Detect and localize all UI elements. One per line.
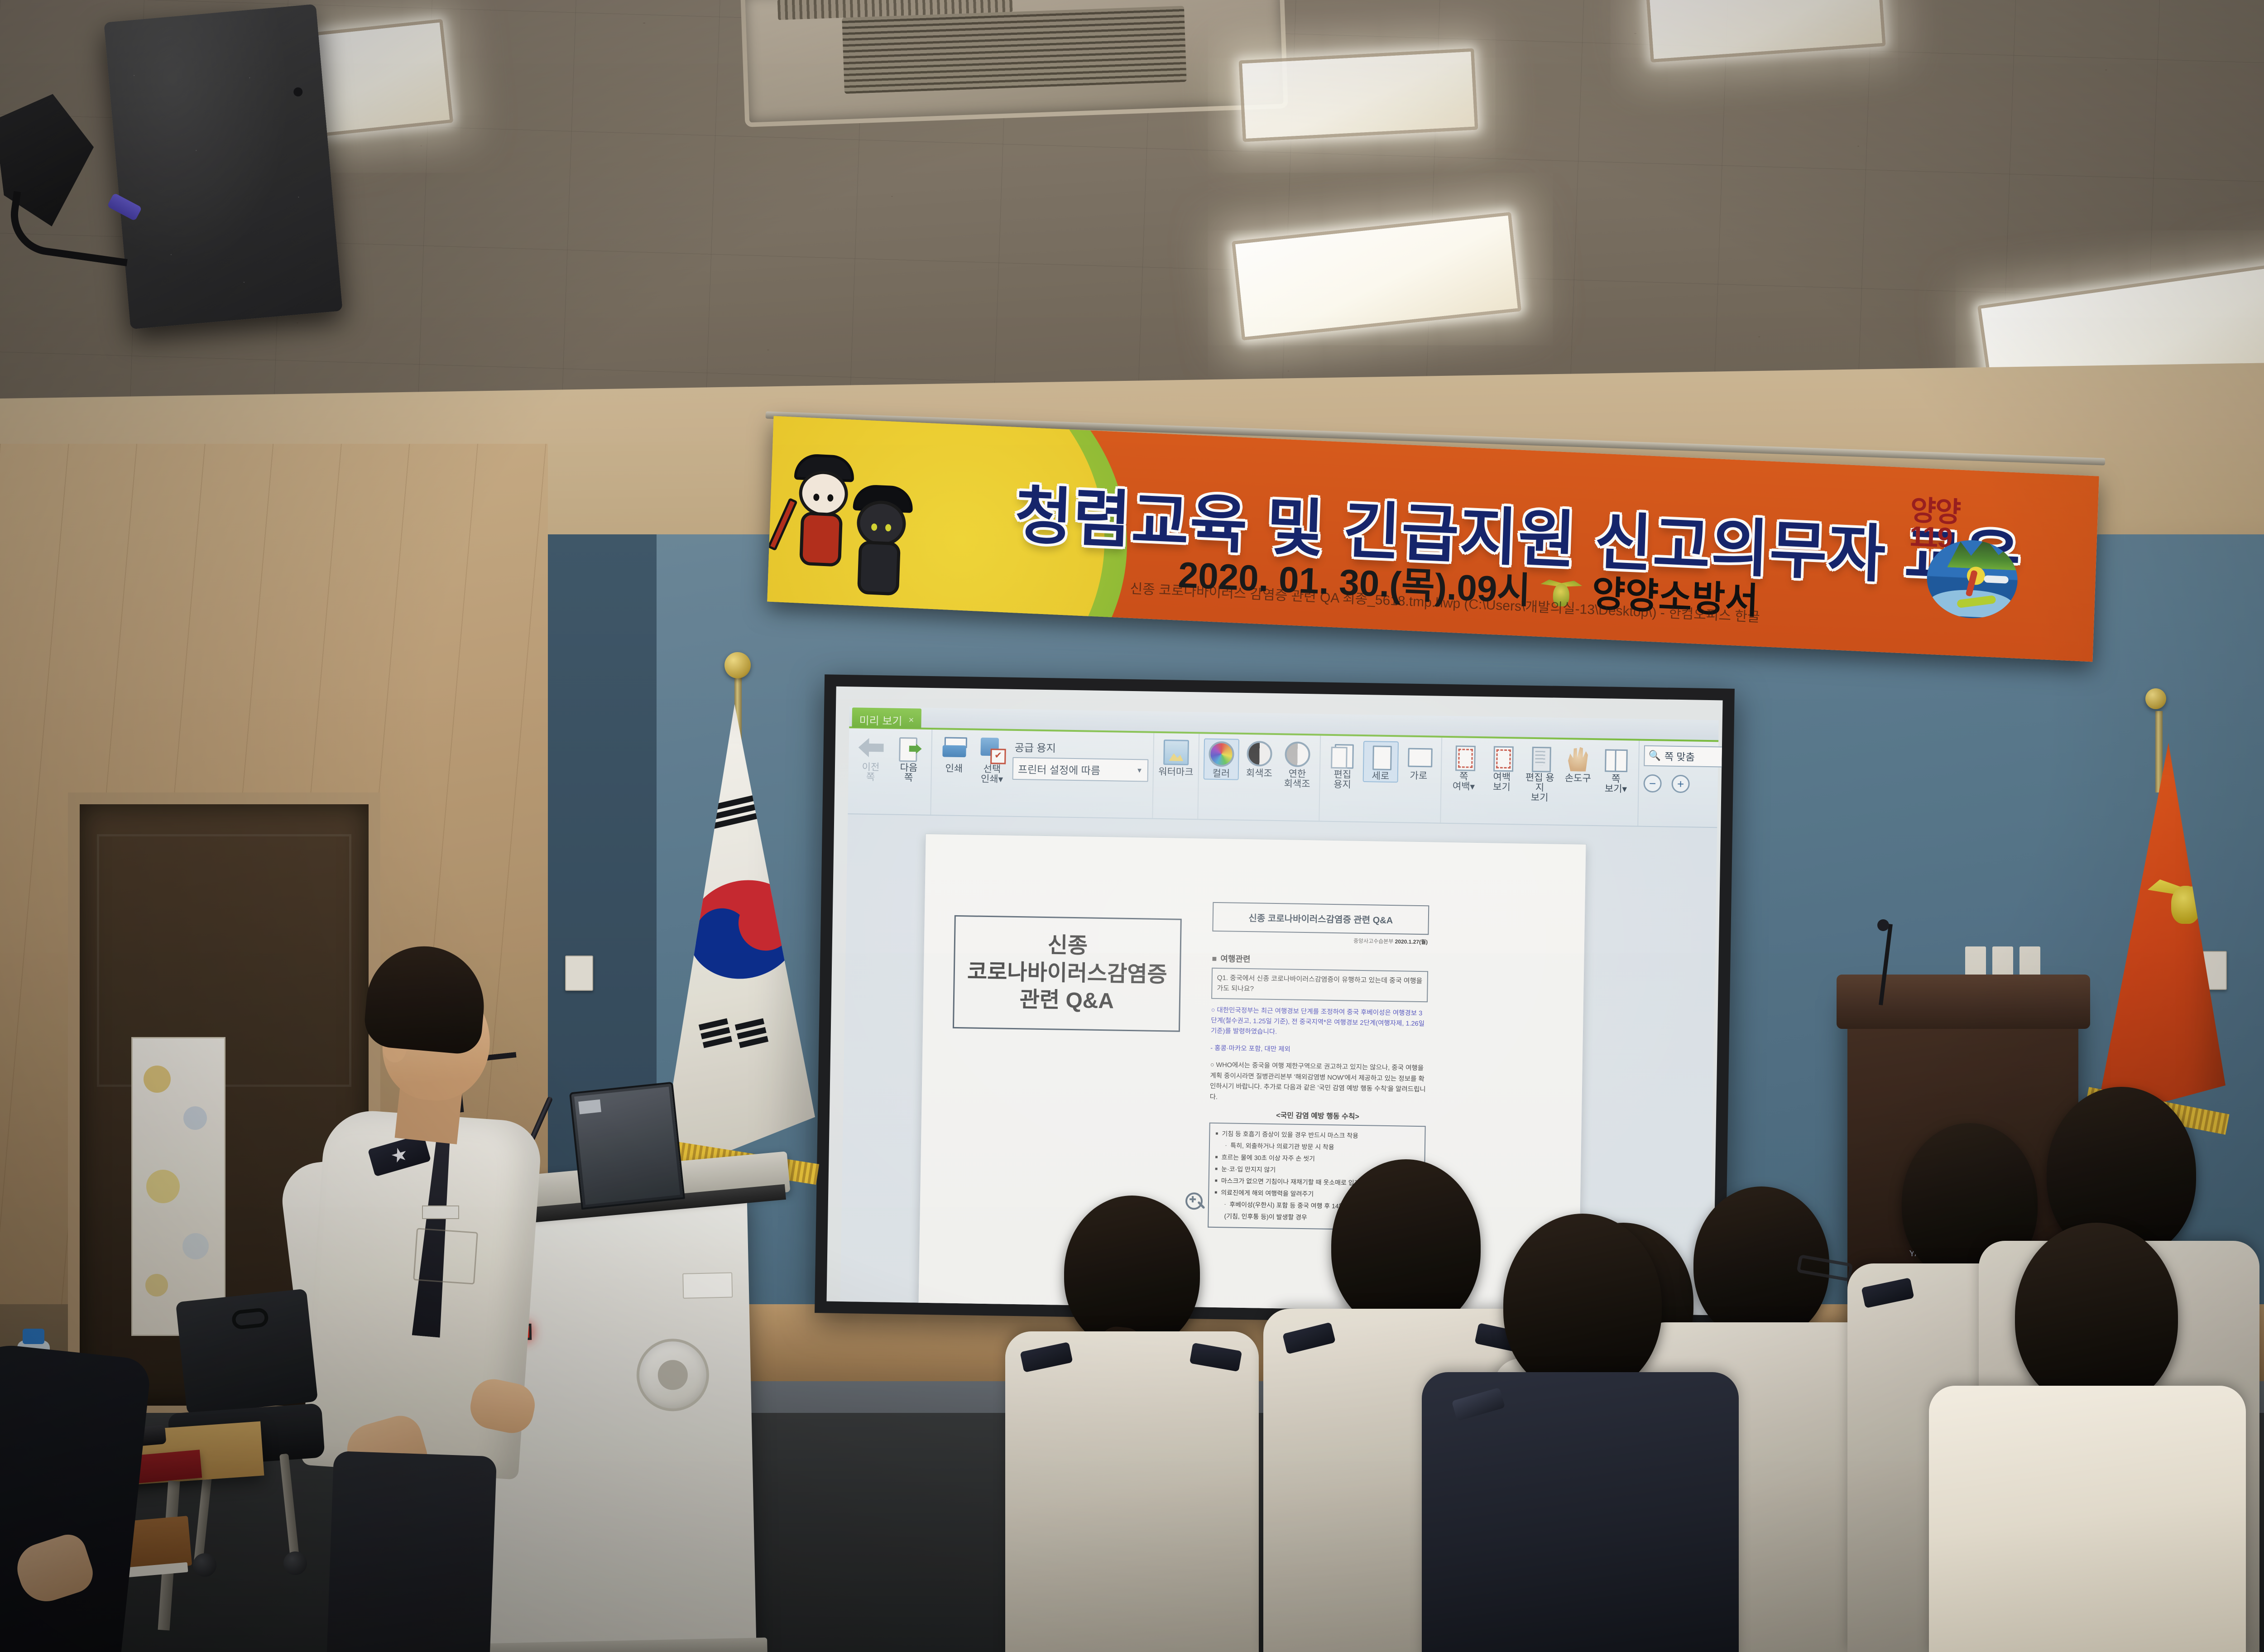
presenter bbox=[290, 946, 543, 1652]
wall-switch[interactable] bbox=[565, 956, 593, 991]
color-button[interactable]: 컬러 bbox=[1204, 738, 1239, 780]
hand-tool-label: 손도구 bbox=[1565, 773, 1591, 784]
slide-title-line-3: 관련 Q&A bbox=[1019, 987, 1114, 1014]
zoom-out-button[interactable]: − bbox=[1643, 774, 1662, 793]
color-label: 컬러 bbox=[1212, 769, 1230, 779]
ribbon-group-paper: 편집 용지 세로 가로 bbox=[1319, 736, 1442, 823]
presenter-hair bbox=[362, 941, 489, 1056]
ceiling-air-conditioner bbox=[740, 0, 1288, 127]
watermark-label: 워터마크 bbox=[1158, 767, 1194, 778]
search-icon: 🔍 bbox=[1648, 750, 1661, 762]
ribbon-group-watermark: 워터마크 bbox=[1153, 733, 1199, 819]
fit-page-label: 쪽 맞춤 bbox=[1664, 749, 1695, 764]
page-margin-icon bbox=[1451, 744, 1477, 770]
document-date-value: 2020.1.27(월) bbox=[1395, 938, 1428, 945]
audience-member bbox=[1929, 1223, 2246, 1652]
wall-outlet-group[interactable] bbox=[1965, 946, 2040, 975]
landscape-label: 가로 bbox=[1410, 771, 1427, 781]
supply-paper-select[interactable]: 프린터 설정에 따름 ▼ bbox=[1012, 757, 1149, 782]
audience-member bbox=[1422, 1214, 1739, 1652]
tab-print-preview[interactable]: 미리 보기 × bbox=[852, 707, 921, 728]
show-margin-button[interactable]: 여백 보기 bbox=[1484, 743, 1520, 792]
audience-uniform bbox=[1005, 1331, 1259, 1652]
audience-head bbox=[1064, 1196, 1200, 1349]
document-question: Q1. 중국에서 신종 코로나바이러스감염증이 유행하고 있는데 중국 여행을 … bbox=[1211, 968, 1428, 1002]
fire-flagpole-finial bbox=[2145, 688, 2166, 709]
audience-head bbox=[2015, 1223, 2178, 1408]
selective-print-label: 선택 인쇄▾ bbox=[981, 764, 1003, 784]
ribbon-group-zoom: 🔍 쪽 맞춤 − + bbox=[1638, 741, 1722, 827]
light-grayscale-icon bbox=[1285, 741, 1310, 767]
equipment-label bbox=[682, 1272, 733, 1298]
grayscale-button[interactable]: 회색조 bbox=[1242, 739, 1277, 779]
next-page-label: 다음 쪽 bbox=[900, 763, 917, 783]
podium-mic-head bbox=[1877, 919, 1889, 931]
audience-member bbox=[1005, 1196, 1259, 1652]
document-answer-1: ○ 대한민국정부는 최근 여행경보 단계를 조정하여 중국 후베이성은 여행경보… bbox=[1211, 1005, 1428, 1040]
yangyang-119-logo: 양양 119 bbox=[1905, 494, 2045, 622]
print-label: 인쇄 bbox=[945, 764, 963, 774]
portrait-icon bbox=[1368, 744, 1394, 769]
document-rules-title: <국민 감염 예방 행동 수칙> bbox=[1209, 1108, 1426, 1123]
presenter-name-badge bbox=[422, 1205, 459, 1219]
pa-speaker bbox=[104, 4, 342, 329]
print-preview-ribbon: 이전 쪽 다음 쪽 인쇄 bbox=[848, 728, 1718, 828]
presenter-laptop[interactable] bbox=[569, 1082, 685, 1210]
ribbon-group-print: 인쇄 선택 인쇄▾ 공급 용지 프린터 설정에 따름 ▼ bbox=[931, 730, 1154, 818]
arrow-left-icon bbox=[858, 735, 884, 760]
prev-page-label: 이전 쪽 bbox=[862, 763, 879, 783]
landscape-button[interactable]: 가로 bbox=[1401, 741, 1437, 781]
presenter-trousers bbox=[326, 1451, 497, 1652]
wall-decor-panel bbox=[131, 1037, 225, 1336]
document-header: 신종 코로나바이러스감염증 관련 Q&A bbox=[1212, 902, 1429, 935]
printer-icon bbox=[941, 736, 967, 762]
supply-paper-label: 공급 용지 bbox=[1014, 739, 1148, 757]
slide-title-box: 신종 코로나바이러스감염증 관련 Q&A bbox=[953, 915, 1182, 1032]
selective-print-icon bbox=[979, 737, 1005, 763]
show-edit-paper-icon bbox=[1527, 745, 1553, 771]
page-view-button[interactable]: 쪽 보기▾ bbox=[1598, 744, 1634, 794]
tab-label: 미리 보기 bbox=[859, 712, 902, 728]
show-margin-icon bbox=[1489, 744, 1515, 770]
selective-print-button[interactable]: 선택 인쇄▾ bbox=[974, 735, 1010, 785]
document-answer-3: ○ WHO에서는 중국을 여행 제한구역으로 권고하고 있지는 않으나, 중국 … bbox=[1209, 1060, 1426, 1106]
color-wheel-icon bbox=[1209, 741, 1234, 767]
portrait-button[interactable]: 세로 bbox=[1363, 741, 1399, 783]
document-section-heading: 여행관련 bbox=[1212, 952, 1428, 968]
firefighter-mascots bbox=[791, 444, 986, 589]
zoom-in-button[interactable]: + bbox=[1671, 775, 1690, 793]
landscape-icon bbox=[1406, 744, 1432, 769]
watermark-button[interactable]: 워터마크 bbox=[1158, 738, 1194, 778]
hand-tool-button[interactable]: 손도구 bbox=[1560, 744, 1596, 784]
chevron-down-icon: ▼ bbox=[1136, 767, 1143, 774]
edit-paper-label: 편집 용지 bbox=[1333, 770, 1351, 790]
page-margin-button[interactable]: 쪽 여백▾ bbox=[1446, 742, 1482, 792]
portrait-label: 세로 bbox=[1372, 771, 1389, 781]
audience-head bbox=[1503, 1214, 1662, 1395]
page-margin-label: 쪽 여백▾ bbox=[1453, 772, 1475, 792]
fit-page-button[interactable]: 🔍 쪽 맞춤 bbox=[1644, 745, 1722, 768]
flagpole-finial bbox=[724, 652, 751, 678]
ribbon-group-color: 컬러 회색조 연한 회색조 bbox=[1198, 734, 1321, 821]
hand-tool-icon bbox=[1565, 746, 1591, 772]
lecture-hall-scene: 청렴교육 및 긴급지원 신고의무자 교육 2020. 01. 30.(목).09… bbox=[0, 0, 2264, 1652]
page-view-icon bbox=[1603, 746, 1629, 772]
edit-paper-icon bbox=[1330, 742, 1356, 768]
edit-paper-button[interactable]: 편집 용지 bbox=[1324, 740, 1361, 790]
document-date: 중앙사고수습본부 2020.1.27(월) bbox=[1212, 935, 1428, 946]
ribbon-group-navigation: 이전 쪽 다음 쪽 bbox=[848, 728, 932, 815]
show-edit-paper-label: 편집 용지 보기 bbox=[1522, 773, 1558, 803]
document-answer-2: - 홍콩·마카오 포함, 대만 제외 bbox=[1210, 1043, 1427, 1057]
next-page-button[interactable]: 다음 쪽 bbox=[891, 734, 927, 783]
slide-title-line-1: 신종 bbox=[1047, 933, 1088, 959]
close-icon[interactable]: × bbox=[908, 715, 914, 725]
document-date-prefix: 중앙사고수습본부 bbox=[1353, 938, 1394, 945]
presenter-shirt-pocket bbox=[413, 1228, 478, 1284]
page-view-label: 쪽 보기▾ bbox=[1605, 774, 1627, 794]
show-edit-paper-button[interactable]: 편집 용지 보기 bbox=[1522, 744, 1558, 803]
supply-paper-value: 프린터 설정에 따름 bbox=[1018, 761, 1101, 778]
slide-title-line-2: 코로나바이러스감염증 bbox=[967, 959, 1167, 988]
audience-uniform bbox=[1929, 1386, 2246, 1652]
prev-page-button[interactable]: 이전 쪽 bbox=[853, 733, 889, 783]
arrow-right-icon bbox=[896, 735, 922, 761]
show-margin-label: 여백 보기 bbox=[1493, 773, 1511, 792]
grayscale-icon bbox=[1247, 741, 1272, 767]
light-grayscale-button[interactable]: 연한 회색조 bbox=[1279, 740, 1315, 789]
ribbon-group-margin: 쪽 여백▾ 여백 보기 편집 용지 보기 손도구 bbox=[1441, 738, 1640, 826]
light-grayscale-label: 연한 회색조 bbox=[1284, 769, 1310, 789]
print-button[interactable]: 인쇄 bbox=[936, 734, 972, 774]
watermark-icon bbox=[1163, 740, 1189, 765]
grayscale-label: 회색조 bbox=[1246, 768, 1272, 779]
ceiling-light-panel bbox=[1239, 48, 1478, 142]
